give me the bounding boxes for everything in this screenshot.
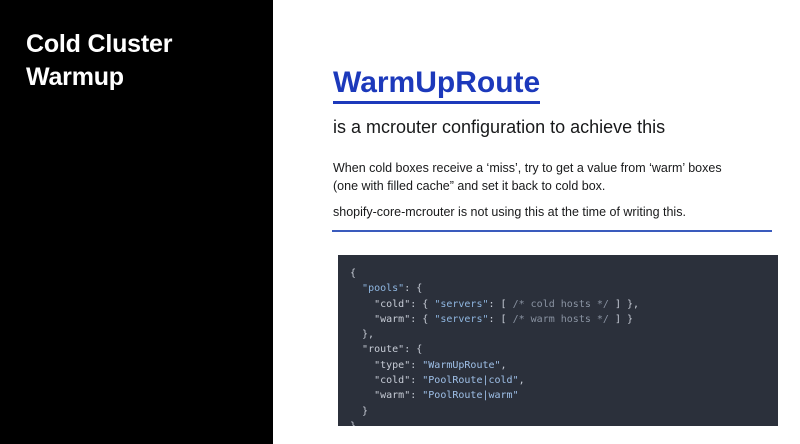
- code-line: "route": {: [350, 342, 778, 357]
- code-token-punct: : {: [404, 283, 422, 294]
- code-line: {: [350, 266, 778, 281]
- code-token-punct: ] },: [609, 299, 639, 310]
- code-token-key: "type": [374, 360, 410, 371]
- code-token-punct: [350, 360, 374, 371]
- code-token-punct: ,: [519, 375, 525, 386]
- code-line: "type": "WarmUpRoute",: [350, 358, 778, 373]
- code-token-punct: : [: [489, 299, 513, 310]
- code-block-json-config: { "pools": { "cold": { "servers": [ /* c…: [338, 255, 778, 426]
- code-token-punct: :: [410, 375, 422, 386]
- code-token-key-blue: "servers": [434, 314, 488, 325]
- code-line: },: [350, 327, 778, 342]
- code-token-str: "WarmUpRoute": [422, 360, 500, 371]
- left-title-panel: Cold Cluster Warmup: [0, 0, 273, 444]
- code-token-punct: }: [350, 406, 368, 417]
- code-token-punct: ,: [501, 360, 507, 371]
- code-token-punct: },: [350, 329, 374, 340]
- code-token-comment: /* warm hosts */: [513, 314, 609, 325]
- code-line: }: [350, 404, 778, 419]
- code-token-punct: [350, 314, 374, 325]
- code-token-punct: [350, 299, 374, 310]
- code-token-str: "PoolRoute|warm": [422, 390, 518, 401]
- code-token-punct: :: [410, 360, 422, 371]
- code-token-key-blue: "pools": [362, 283, 404, 294]
- slide-title: Cold Cluster Warmup: [26, 28, 254, 94]
- code-token-punct: }: [350, 421, 356, 426]
- code-token-key: "warm": [374, 314, 410, 325]
- code-token-key: "cold": [374, 375, 410, 386]
- code-token-key: "warm": [374, 390, 410, 401]
- code-token-key: "route": [362, 344, 404, 355]
- body-paragraph-2: shopify-core-mcrouter is not using this …: [333, 203, 785, 221]
- code-token-punct: : {: [404, 344, 422, 355]
- code-line: "pools": {: [350, 281, 778, 296]
- code-token-punct: ] }: [609, 314, 633, 325]
- code-token-punct: : {: [410, 299, 434, 310]
- code-token-key: "cold": [374, 299, 410, 310]
- slide-content-panel: WarmUpRoute is a mcrouter configuration …: [273, 0, 800, 444]
- code-token-punct: [350, 344, 362, 355]
- code-token-punct: [350, 390, 374, 401]
- code-token-punct: [350, 283, 362, 294]
- code-token-comment: /* cold hosts */: [513, 299, 609, 310]
- code-line: "cold": "PoolRoute|cold",: [350, 373, 778, 388]
- subheading: is a mcrouter configuration to achieve t…: [333, 115, 665, 139]
- code-line: "warm": { "servers": [ /* warm hosts */ …: [350, 312, 778, 327]
- slide: Cold Cluster Warmup WarmUpRoute is a mcr…: [0, 0, 800, 444]
- code-line: "cold": { "servers": [ /* cold hosts */ …: [350, 297, 778, 312]
- code-line: }: [350, 419, 778, 426]
- code-line: "warm": "PoolRoute|warm": [350, 388, 778, 403]
- code-token-str: "PoolRoute|cold": [422, 375, 518, 386]
- code-token-key-blue: "servers": [434, 299, 488, 310]
- code-token-punct: :: [410, 390, 422, 401]
- body-paragraph-1: When cold boxes receive a ‘miss’, try to…: [333, 159, 785, 195]
- code-token-punct: [350, 375, 374, 386]
- warmuproute-heading-link[interactable]: WarmUpRoute: [333, 66, 540, 104]
- code-token-punct: : [: [489, 314, 513, 325]
- code-token-punct: {: [350, 268, 356, 279]
- code-token-punct: : {: [410, 314, 434, 325]
- horizontal-divider: [332, 230, 772, 232]
